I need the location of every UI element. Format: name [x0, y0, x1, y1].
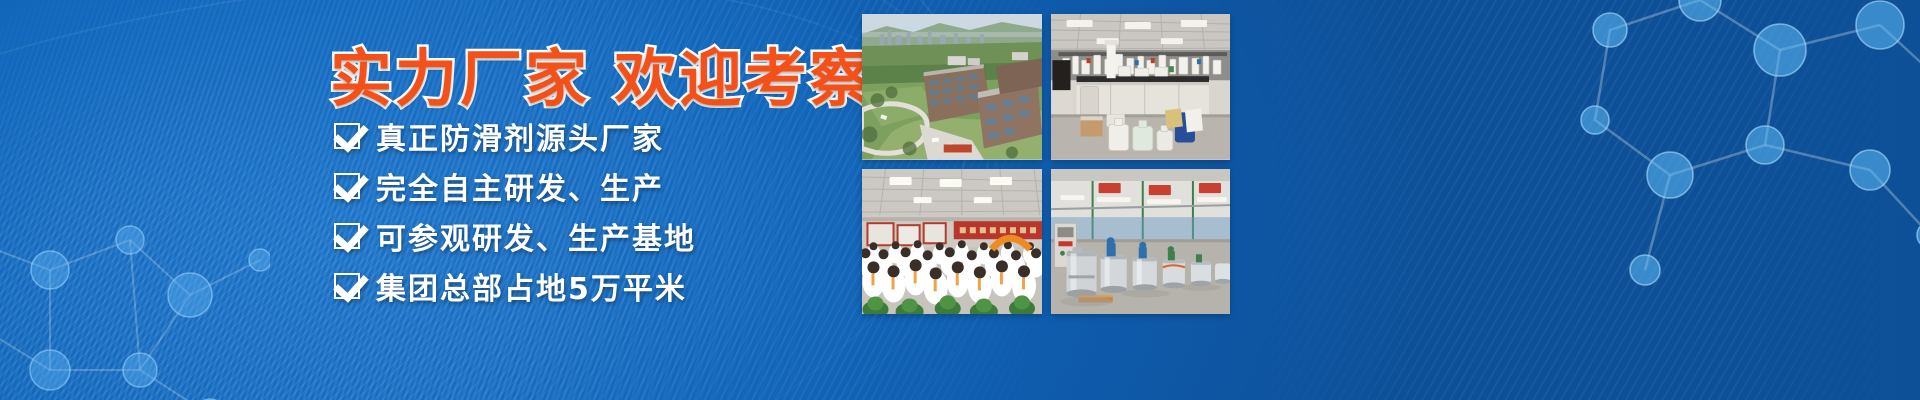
- list-item: 真正防滑剂源头厂家: [334, 114, 696, 157]
- feature-label: 真正防滑剂源头厂家: [376, 114, 664, 158]
- feature-label: 集团总部占地5万平米: [376, 264, 687, 308]
- list-item: 可参观研发、生产基地: [334, 214, 696, 257]
- photo-grid: [862, 14, 1230, 314]
- page-title: 实力厂家 欢迎考察: [330, 28, 875, 118]
- checkbox-checked-icon: [334, 273, 360, 299]
- feature-label: 完全自主研发、生产: [376, 164, 664, 208]
- checkbox-checked-icon: [334, 123, 360, 149]
- promo-banner: 实力厂家 欢迎考察 真正防滑剂源头厂家 完全自主研发、生产 可参观研发、生产基地…: [0, 0, 1920, 400]
- molecule-icon-right: [1550, 0, 1920, 300]
- feature-list: 真正防滑剂源头厂家 完全自主研发、生产 可参观研发、生产基地 集团总部占地5万平…: [334, 114, 696, 314]
- checkbox-checked-icon: [334, 173, 360, 199]
- production-equipment-photo: [1051, 169, 1231, 315]
- banner-content: 实力厂家 欢迎考察 真正防滑剂源头厂家 完全自主研发、生产 可参观研发、生产基地…: [0, 0, 855, 400]
- feature-label: 可参观研发、生产基地: [376, 214, 696, 258]
- checkbox-checked-icon: [334, 223, 360, 249]
- factory-aerial-photo: [862, 14, 1042, 160]
- list-item: 集团总部占地5万平米: [334, 264, 696, 307]
- employee-assembly-photo: [862, 169, 1042, 315]
- laboratory-photo: [1051, 14, 1231, 160]
- background-diagonal-stripes-right: [1220, 0, 1920, 400]
- list-item: 完全自主研发、生产: [334, 164, 696, 207]
